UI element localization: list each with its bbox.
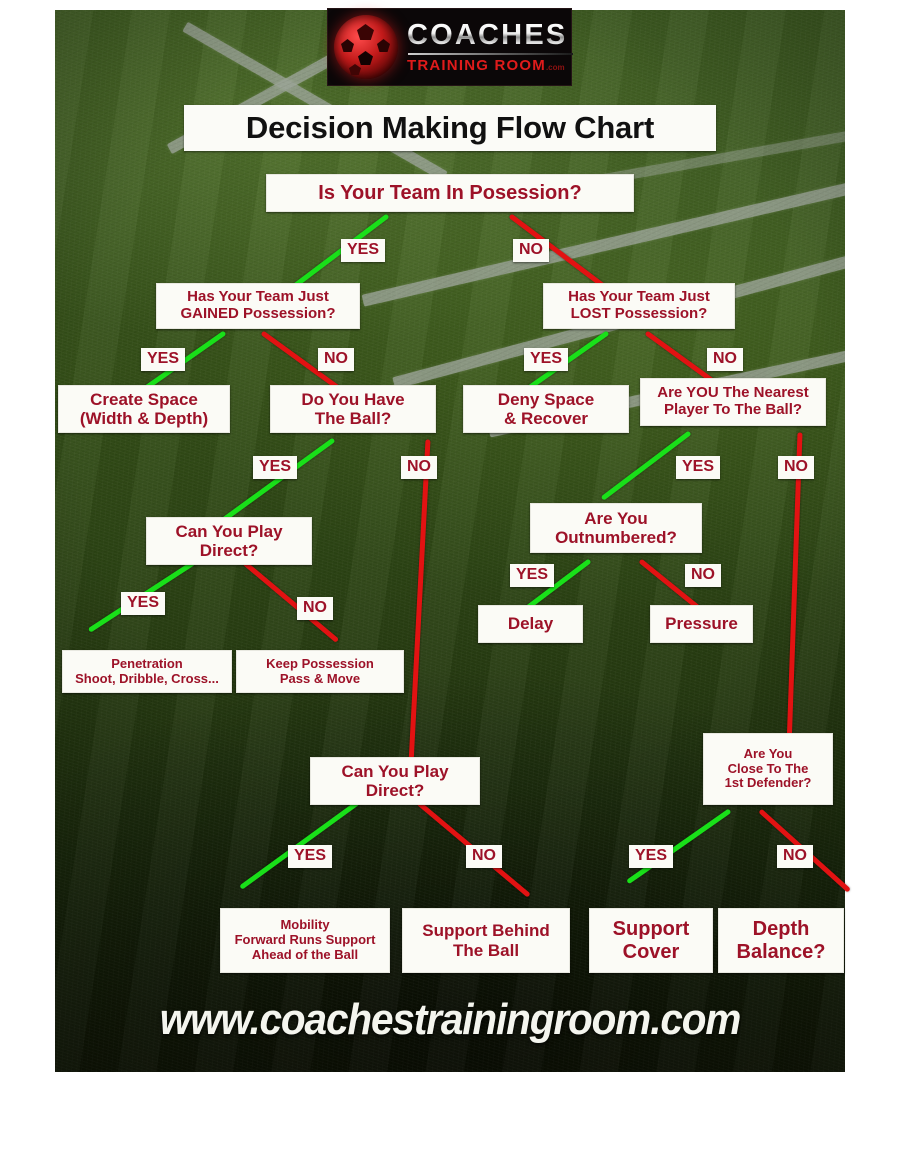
node-support-cover[interactable]: Support Cover [589,908,713,973]
node-line: Direct? [366,781,425,800]
edge-label-yes: YES [288,845,332,868]
node-line: Mobility [280,918,329,933]
node-line: Outnumbered? [555,528,677,547]
node-line: Pass & Move [280,672,360,687]
edge-label-no: NO [777,845,813,868]
node-do-you-have-the-ball[interactable]: Do You Have The Ball? [270,385,436,433]
node-line: Direct? [200,541,259,560]
node-line: Close To The [728,762,809,777]
edge-label-yes: YES [141,348,185,371]
logo-main-text: COACHES [407,21,573,50]
node-line: 1st Defender? [725,776,812,791]
node-line: Create Space [90,390,198,409]
node-line: The Ball [453,941,519,960]
node-delay[interactable]: Delay [478,605,583,643]
node-can-you-play-direct-1[interactable]: Can You Play Direct? [146,517,312,565]
node-line: Forward Runs Support [235,933,376,948]
node-line: Has Your Team Just [568,289,710,306]
node-nearest-player[interactable]: Are YOU The Nearest Player To The Ball? [640,378,826,426]
node-deny-space[interactable]: Deny Space & Recover [463,385,629,433]
edge-label-yes: YES [253,456,297,479]
edge-label-no: NO [513,239,549,262]
edge-label-no: NO [685,564,721,587]
node-line: & Recover [504,409,588,428]
node-root[interactable]: Is Your Team In Posession? [266,174,634,212]
logo-tld: .com [546,63,565,72]
node-line: Penetration [111,657,183,672]
node-depth-balance[interactable]: Depth Balance? [718,908,844,973]
logo-sub-text: TRAINING ROOM.com [407,58,573,73]
edge-label-no: NO [466,845,502,868]
node-line: Support [613,918,690,941]
edge-label-yes: YES [510,564,554,587]
edge-label-yes: YES [121,592,165,615]
edge-label-yes: YES [341,239,385,262]
node-line: GAINED Possession? [180,306,335,323]
edge-label-yes: YES [676,456,720,479]
node-line: Ahead of the Ball [252,948,358,963]
node-line: Keep Possession [266,657,374,672]
node-lost[interactable]: Has Your Team Just LOST Possession? [543,283,735,329]
node-gained[interactable]: Has Your Team Just GAINED Possession? [156,283,360,329]
edge-label-yes: YES [629,845,673,868]
node-penetration[interactable]: Penetration Shoot, Dribble, Cross... [62,650,232,693]
node-line: Cover [623,941,680,964]
logo-divider [408,53,573,55]
logo-sub-label: TRAINING ROOM [407,57,546,74]
node-line: Can You Play [175,522,282,541]
node-line: Do You Have [301,390,404,409]
node-line: Deny Space [498,390,594,409]
edge-label-no: NO [778,456,814,479]
edge-label-no: NO [707,348,743,371]
website-url[interactable]: www.coachestrainingroom.com [87,995,814,1045]
node-close-to-1st-defender[interactable]: Are You Close To The 1st Defender? [703,733,833,805]
page-title: Decision Making Flow Chart [184,105,716,151]
node-pressure[interactable]: Pressure [650,605,753,643]
node-mobility[interactable]: Mobility Forward Runs Support Ahead of t… [220,908,390,973]
node-line: Delay [508,614,553,633]
soccer-ball-icon [334,15,398,79]
node-line: Balance? [737,941,826,964]
node-line: LOST Possession? [571,306,708,323]
edge-label-no: NO [297,597,333,620]
flowchart-page: COACHES TRAINING ROOM.com Decision Makin… [0,0,900,1165]
logo-wordmark: COACHES TRAINING ROOM.com [407,21,573,73]
node-line: Is Your Team In Posession? [318,182,581,205]
node-support-behind-the-ball[interactable]: Support Behind The Ball [402,908,570,973]
node-line: Pressure [665,614,738,633]
node-line: Player To The Ball? [664,402,802,419]
node-create-space[interactable]: Create Space (Width & Depth) [58,385,230,433]
node-line: Are YOU The Nearest [657,385,808,402]
edge-label-no: NO [401,456,437,479]
node-line: Shoot, Dribble, Cross... [75,672,219,687]
node-are-you-outnumbered[interactable]: Are You Outnumbered? [530,503,702,553]
node-line: Depth [753,918,810,941]
coaches-training-room-logo[interactable]: COACHES TRAINING ROOM.com [327,8,572,86]
node-line: Has Your Team Just [187,289,329,306]
node-line: Support Behind [422,921,549,940]
node-can-you-play-direct-2[interactable]: Can You Play Direct? [310,757,480,805]
node-keep-possession[interactable]: Keep Possession Pass & Move [236,650,404,693]
node-line: Are You [584,509,648,528]
edge-label-no: NO [318,348,354,371]
node-line: (Width & Depth) [80,409,208,428]
node-line: The Ball? [315,409,392,428]
node-line: Are You [744,747,793,762]
node-line: Can You Play [341,762,448,781]
edge-label-yes: YES [524,348,568,371]
